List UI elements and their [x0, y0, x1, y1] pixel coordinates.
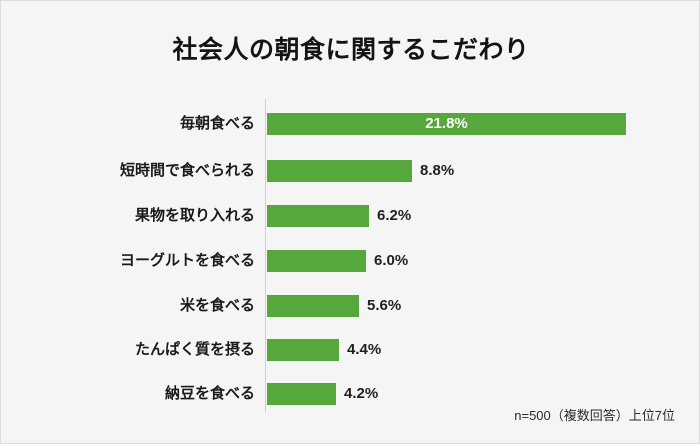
bar-value-label: 6.0% — [374, 250, 408, 272]
category-label: 毎朝食べる — [1, 113, 255, 135]
bar-row: たんぱく質を摂る 4.4% — [1, 339, 700, 361]
bar-row: 短時間で食べられる 8.8% — [1, 160, 700, 182]
bar-row: ヨーグルトを食べる 6.0% — [1, 250, 700, 272]
bar-row: 米を食べる 5.6% — [1, 295, 700, 317]
bar-value-label: 21.8% — [267, 113, 626, 135]
bar-segment — [267, 160, 412, 182]
bar-segment: 21.8% — [267, 113, 626, 135]
category-label: 納豆を食べる — [1, 383, 255, 405]
category-label: ヨーグルトを食べる — [1, 250, 255, 272]
category-label: 果物を取り入れる — [1, 205, 255, 227]
bar-row: 毎朝食べる 21.8% — [1, 113, 700, 135]
bar-value-label: 8.8% — [420, 160, 454, 182]
category-label: たんぱく質を摂る — [1, 339, 255, 361]
bar-segment — [267, 250, 366, 272]
chart-figure: 社会人の朝食に関するこだわり 毎朝食べる 21.8% 短時間で食べられる 8.8… — [0, 0, 700, 444]
bar-segment — [267, 383, 336, 405]
plot-area: 毎朝食べる 21.8% 短時間で食べられる 8.8% 果物を取り入れる 6.2%… — [1, 1, 700, 444]
category-label: 米を食べる — [1, 295, 255, 317]
bar-row: 納豆を食べる 4.2% — [1, 383, 700, 405]
bar-row: 果物を取り入れる 6.2% — [1, 205, 700, 227]
category-label: 短時間で食べられる — [1, 160, 255, 182]
bar-value-label: 4.4% — [347, 339, 381, 361]
bar-segment — [267, 339, 339, 361]
bar-segment — [267, 295, 359, 317]
bar-value-label: 4.2% — [344, 383, 378, 405]
chart-footnote: n=500（複数回答）上位7位 — [514, 405, 675, 424]
bar-value-label: 6.2% — [377, 205, 411, 227]
bar-segment — [267, 205, 369, 227]
bar-value-label: 5.6% — [367, 295, 401, 317]
